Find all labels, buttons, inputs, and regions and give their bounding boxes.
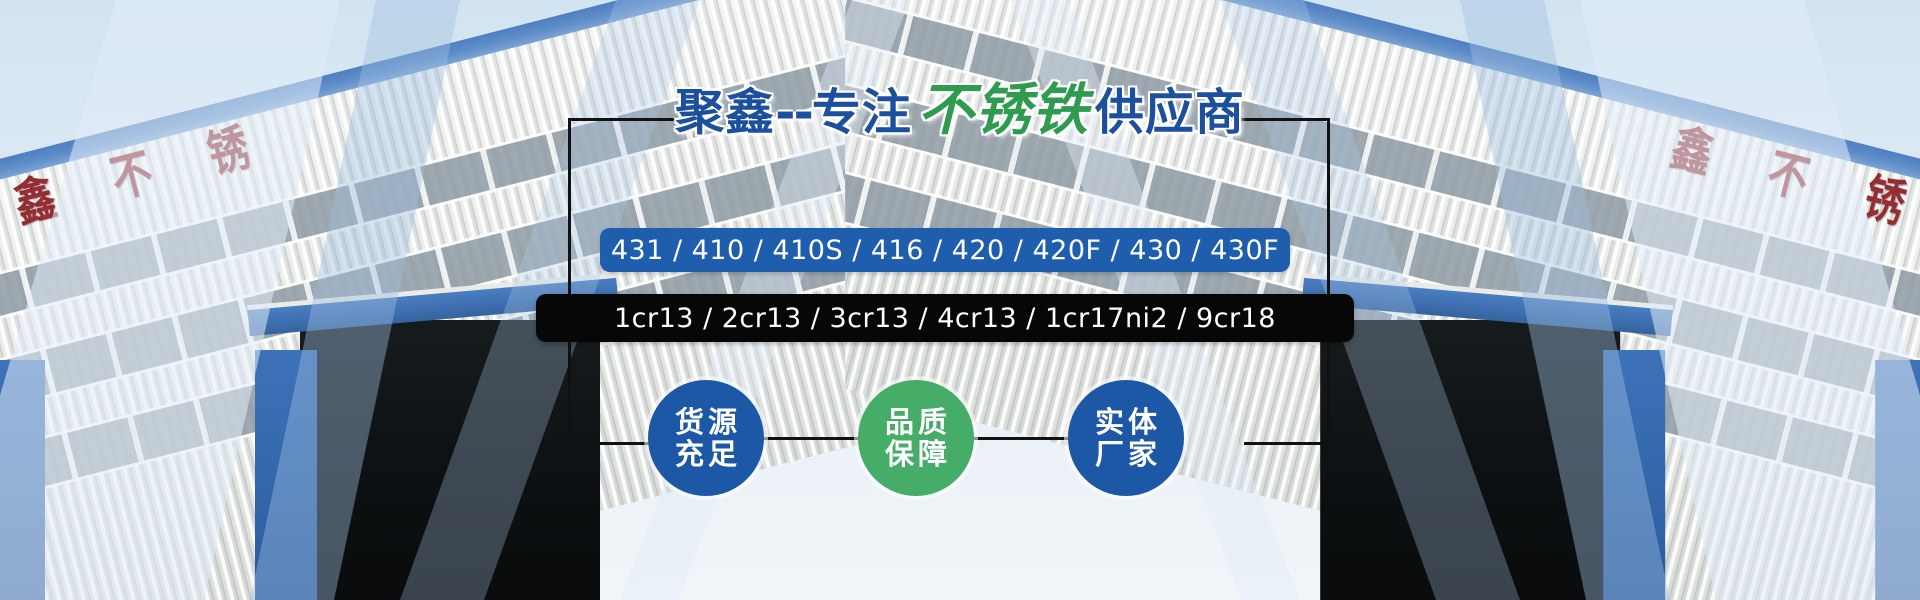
headline-dash: -- bbox=[775, 84, 812, 141]
factory-door-opening bbox=[300, 320, 600, 600]
steel-grades-black-bar: 1cr13 / 2cr13 / 3cr13 / 4cr13 / 1cr17ni2… bbox=[536, 294, 1354, 342]
badge-line-1: 实体 bbox=[1091, 406, 1161, 438]
badge-line-1: 货源 bbox=[671, 406, 741, 438]
headline: 聚鑫--专注不锈铁供应商 bbox=[0, 82, 1920, 138]
blue-door-panel bbox=[0, 360, 45, 600]
steel-grades-blue-text: 431 / 410 / 410S / 416 / 420 / 420F / 43… bbox=[611, 235, 1279, 266]
headline-part-3: 供应商 bbox=[1095, 84, 1245, 141]
steel-grades-blue-bar: 431 / 410 / 410S / 416 / 420 / 420F / 43… bbox=[600, 228, 1290, 272]
headline-part-1: 聚鑫 bbox=[675, 84, 775, 141]
circle-connector-line bbox=[974, 437, 1070, 440]
badge-quality-guaranteed: 品质 保障 bbox=[858, 380, 974, 496]
badge-line-2: 厂家 bbox=[1091, 438, 1161, 470]
badge-real-factory: 实体 厂家 bbox=[1068, 380, 1184, 496]
promo-banner: 鑫 不 锈 锈 不 鑫 bbox=[0, 0, 1920, 600]
circle-connector-line bbox=[764, 437, 860, 440]
steel-grades-black-text: 1cr13 / 2cr13 / 3cr13 / 4cr13 / 1cr17ni2… bbox=[614, 303, 1276, 334]
badge-line-2: 保障 bbox=[881, 438, 951, 470]
factory-door-opening bbox=[1320, 320, 1620, 600]
headline-part-2: 专注 bbox=[812, 84, 912, 141]
blue-door-panel bbox=[1603, 350, 1665, 600]
badge-line-2: 充足 bbox=[671, 438, 741, 470]
badge-line-1: 品质 bbox=[881, 406, 951, 438]
headline-highlight: 不锈铁 bbox=[912, 77, 1095, 143]
blue-door-panel bbox=[1875, 360, 1920, 600]
badge-supply-sufficient: 货源 充足 bbox=[648, 380, 764, 496]
blue-door-panel bbox=[255, 350, 317, 600]
